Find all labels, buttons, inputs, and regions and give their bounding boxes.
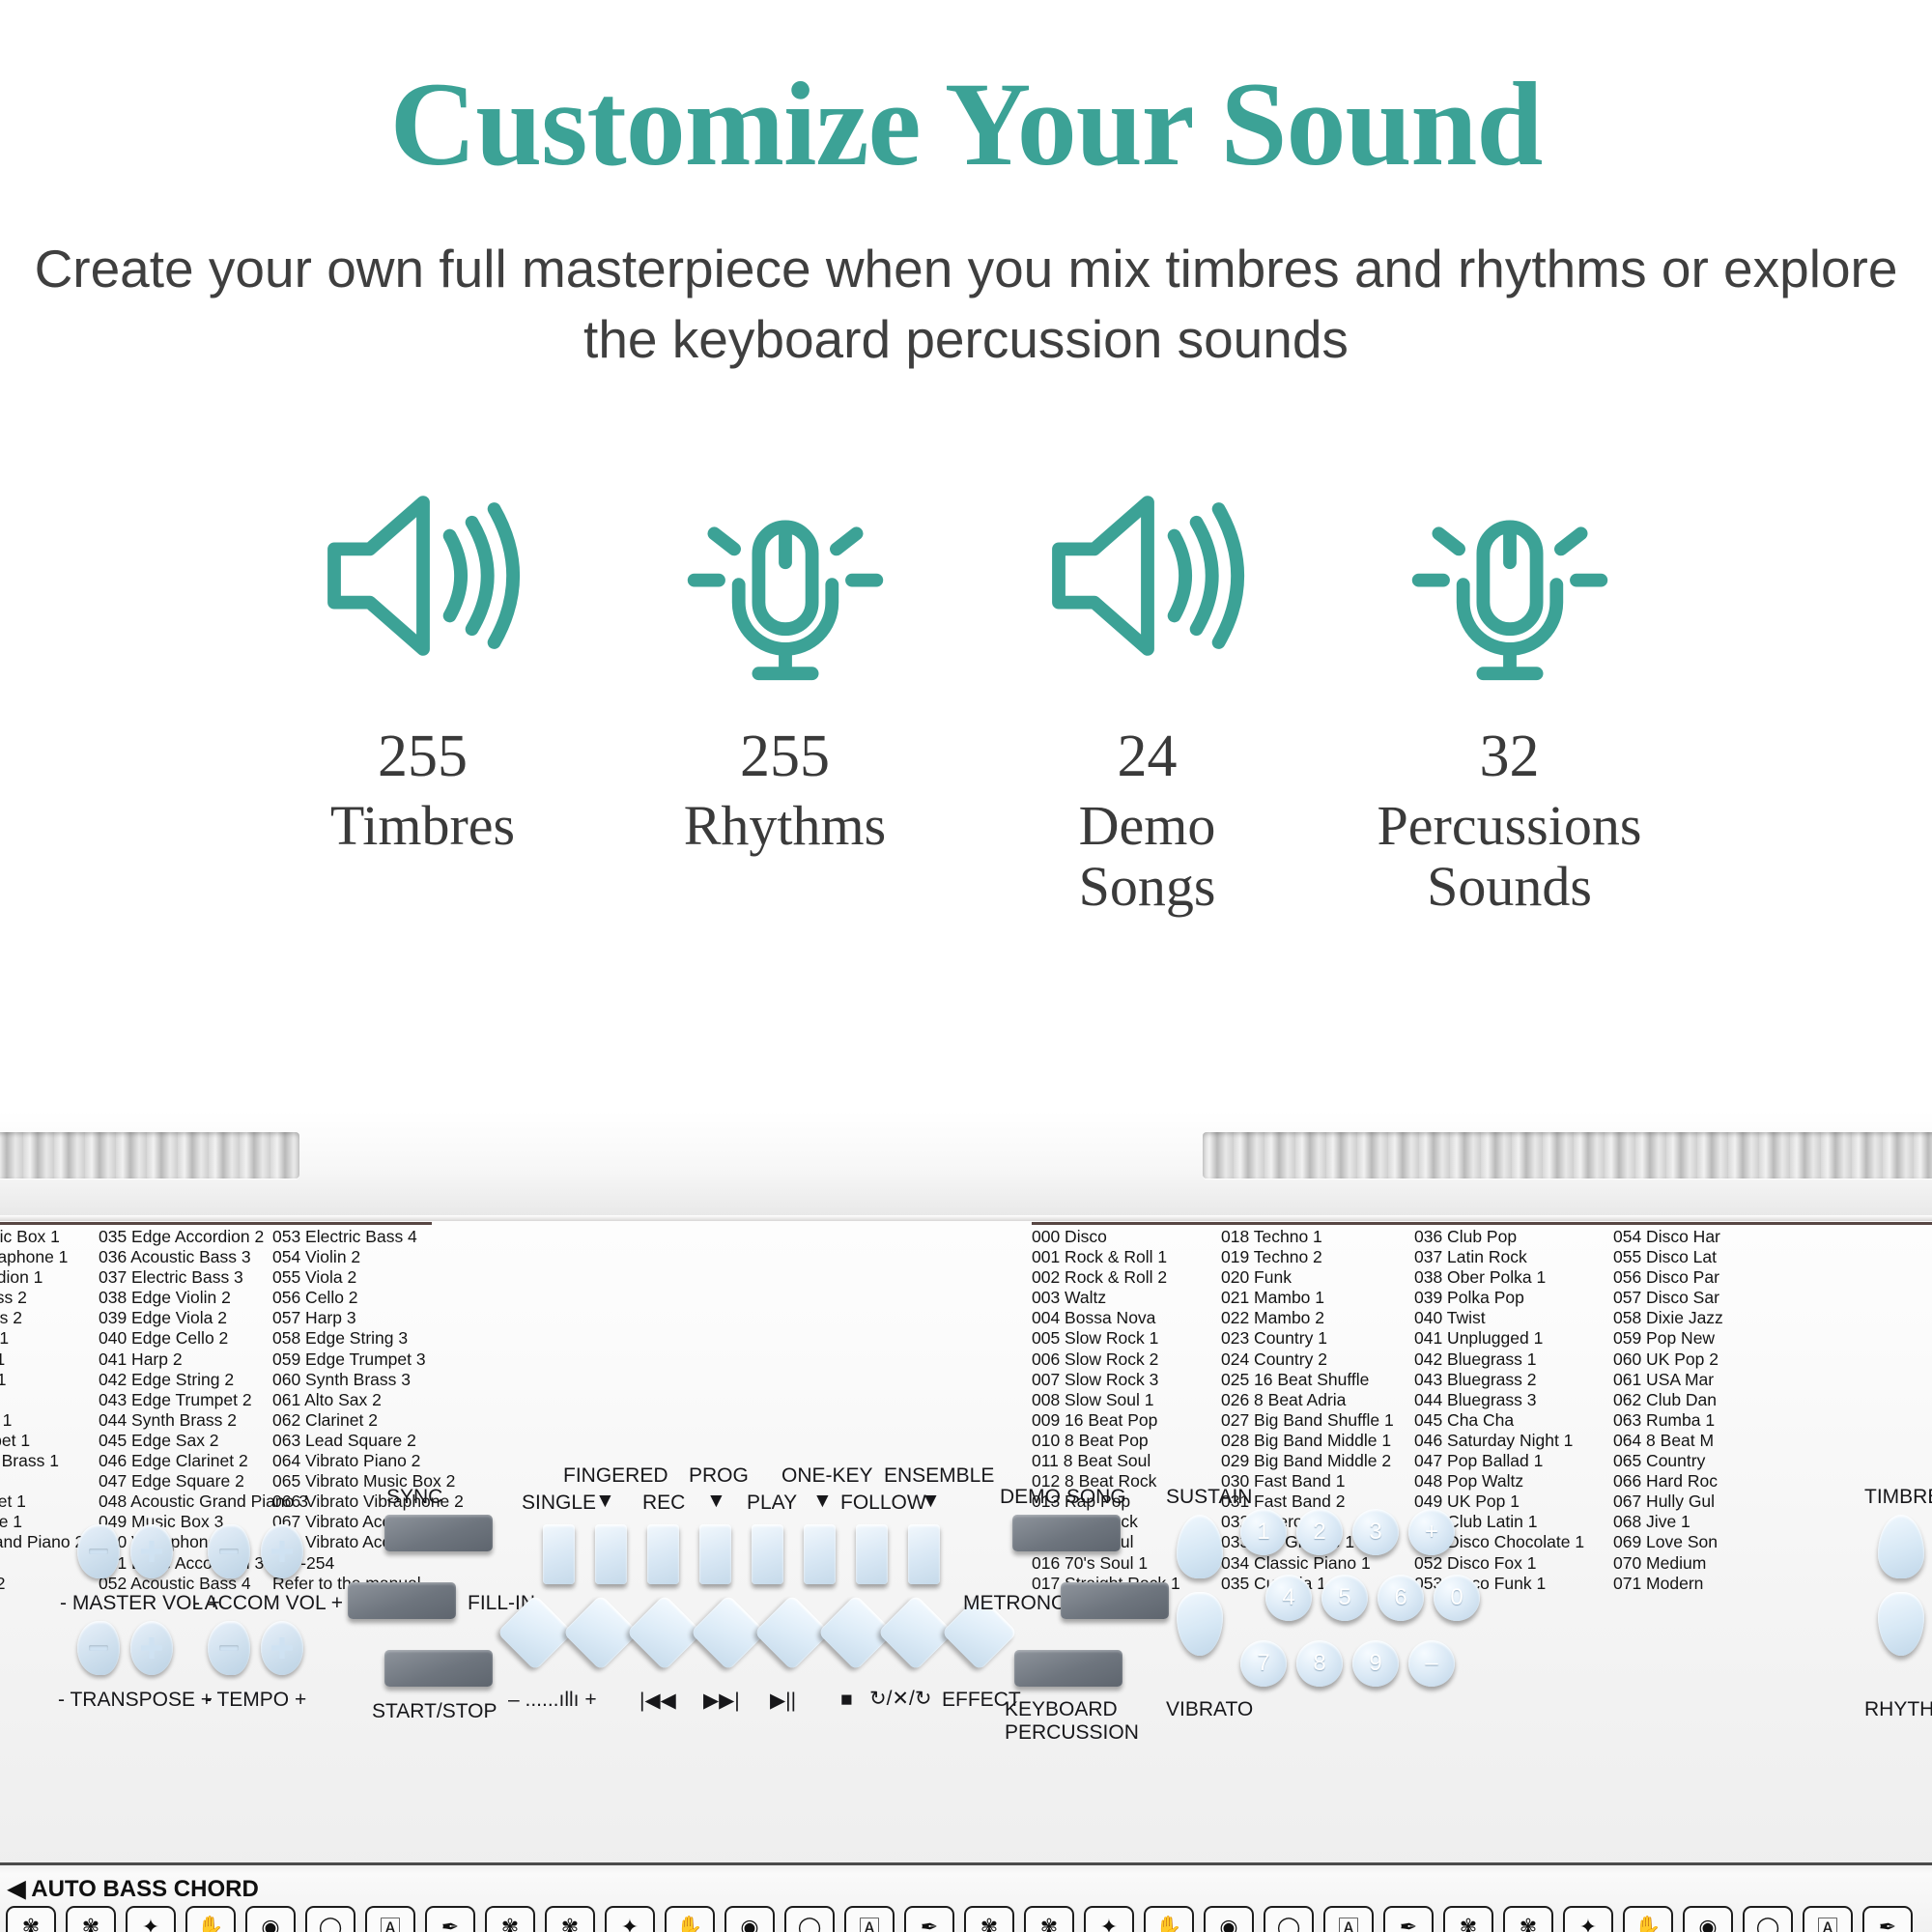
auto-bass-chord-strip: ◀ AUTO BASS CHORD ✾✾✦✋◉◯🄰✒✾✾✦✋◉◯🄰✒✾✾✦✋◉◯… <box>0 1862 1932 1932</box>
accom-vol-label: - ACCOM VOL + <box>193 1592 343 1615</box>
percussion-key-icon[interactable]: ◉ <box>1204 1906 1254 1932</box>
microphone-icon <box>1328 450 1690 701</box>
play-label: PLAY <box>747 1492 797 1515</box>
sustain-button[interactable] <box>1177 1515 1223 1578</box>
list-item: 061 USA Mar <box>1613 1370 1806 1390</box>
next-icon: ▶▶| <box>703 1689 740 1713</box>
list-item: 023 Country 1 <box>1221 1328 1414 1349</box>
list-item: o Music Box 1 <box>0 1227 99 1247</box>
list-item: 059 Edge Trumpet 3 <box>272 1350 456 1370</box>
minus-icon <box>89 1645 108 1651</box>
list-item: 054 Violin 2 <box>272 1247 456 1267</box>
microphone-icon <box>604 450 966 701</box>
list-item: 061 Alto Sax 2 <box>272 1390 456 1410</box>
list-item: Trumpet 1 <box>0 1431 99 1451</box>
list-item: 056 Disco Par <box>1613 1267 1806 1288</box>
list-item: 057 Disco Sar <box>1613 1288 1806 1308</box>
percussion-key-icon[interactable]: ◯ <box>1743 1906 1793 1932</box>
mode-button-ensemble[interactable] <box>908 1524 940 1584</box>
feature-timbres: 255 Timbres <box>241 450 604 857</box>
list-item: 000 Disco <box>1032 1227 1221 1247</box>
percussion-icon-row: ✾✾✦✋◉◯🄰✒✾✾✦✋◉◯🄰✒✾✾✦✋◉◯🄰✒✾✾✦✋◉◯🄰✒ <box>0 1906 1913 1932</box>
list-item: 003 Waltz <box>1032 1288 1221 1308</box>
case-lip <box>0 1215 1932 1221</box>
list-item: 036 Club Pop <box>1414 1227 1613 1247</box>
follow-label: FOLLOW <box>840 1492 926 1515</box>
list-item: 053 Electric Bass 4 <box>272 1227 456 1247</box>
panel-divider <box>0 1222 432 1225</box>
percussion-key-icon[interactable]: ✦ <box>126 1906 176 1932</box>
percussion-key-icon[interactable]: ◯ <box>1264 1906 1314 1932</box>
minus-icon <box>219 1548 239 1554</box>
list-item: 010 8 Beat Pop <box>1032 1431 1221 1451</box>
percussion-key-icon[interactable]: 🄰 <box>1323 1906 1374 1932</box>
percussion-key-icon[interactable]: ◉ <box>245 1906 296 1932</box>
sync-button[interactable] <box>384 1515 493 1551</box>
feature-percussion-sounds: 32 Percussions Sounds <box>1328 450 1690 917</box>
minus-icon <box>219 1645 239 1651</box>
list-item: 002 Rock & Roll 2 <box>1032 1267 1221 1288</box>
volume-slider-icon: – ......ıllı + <box>508 1689 597 1712</box>
numpad-key-2[interactable]: 2 <box>1296 1509 1343 1555</box>
start-stop-label: START/STOP <box>372 1700 497 1723</box>
list-item: 043 Edge Trumpet 2 <box>99 1390 272 1410</box>
list-item: String 1 <box>0 1410 99 1431</box>
list-item: 060 UK Pop 2 <box>1613 1350 1806 1370</box>
stop-icon: ■ <box>840 1689 853 1712</box>
sustain-label: SUSTAIN <box>1166 1486 1252 1509</box>
percussion-key-icon[interactable]: ✋ <box>1623 1906 1673 1932</box>
list-item: Violin 1 <box>0 1328 99 1349</box>
timbre-label: TIMBRE <box>1864 1486 1932 1509</box>
percussion-key-icon[interactable]: ✒ <box>1862 1906 1913 1932</box>
panel-divider <box>1032 1222 1932 1225</box>
feature-number: 32 <box>1328 726 1690 786</box>
percussion-key-icon[interactable]: ✾ <box>1024 1906 1074 1932</box>
tempo-plus-button[interactable] <box>261 1621 303 1675</box>
list-item: 008 Slow Soul 1 <box>1032 1390 1221 1410</box>
transport-button-volume-up[interactable] <box>562 1594 639 1670</box>
list-item: 046 Saturday Night 1 <box>1414 1431 1613 1451</box>
list-item: 044 Synth Brass 2 <box>99 1410 272 1431</box>
demo-song-label: DEMO SONG <box>1000 1486 1126 1509</box>
feature-label: Timbres <box>241 796 604 857</box>
mode-button-one-key[interactable] <box>804 1524 836 1584</box>
numpad-key-8[interactable]: 8 <box>1296 1640 1343 1687</box>
list-item: 028 Big Band Middle 1 <box>1221 1431 1414 1451</box>
list-item: 004 Bossa Nova <box>1032 1308 1221 1328</box>
percussion-key-icon[interactable]: ✾ <box>964 1906 1014 1932</box>
percussion-key-icon[interactable]: ✾ <box>6 1906 56 1932</box>
start-stop-button[interactable] <box>384 1650 493 1687</box>
plus-icon <box>271 1541 293 1562</box>
percussion-key-icon[interactable]: 🄰 <box>1803 1906 1853 1932</box>
list-item: 019 Techno 2 <box>1221 1247 1414 1267</box>
tempo-label: - TEMPO + <box>205 1689 306 1712</box>
speaker-waves-icon <box>241 450 604 701</box>
one-key-arrow-icon: ▼ <box>812 1490 833 1513</box>
speaker-grille-right <box>1203 1132 1932 1179</box>
percussion-key-icon[interactable]: ◉ <box>724 1906 775 1932</box>
ensemble-label: ENSEMBLE <box>884 1464 994 1488</box>
list-item: 045 Edge Sax 2 <box>99 1431 272 1451</box>
percussion-key-icon[interactable]: ✾ <box>1503 1906 1553 1932</box>
percussion-key-icon[interactable]: ✦ <box>1084 1906 1134 1932</box>
list-item: 009 16 Beat Pop <box>1032 1410 1221 1431</box>
percussion-key-icon[interactable]: ✒ <box>1383 1906 1434 1932</box>
percussion-key-icon[interactable]: ✦ <box>1563 1906 1613 1932</box>
mode-button-fingered[interactable] <box>595 1524 627 1584</box>
list-item: 038 Ober Polka 1 <box>1414 1267 1613 1288</box>
mode-button-follow[interactable] <box>856 1524 888 1584</box>
list-item: 025 16 Beat Shuffle <box>1221 1370 1414 1390</box>
feature-number: 255 <box>241 726 604 786</box>
keyboard-percussion-button[interactable] <box>1014 1650 1122 1687</box>
percussion-key-icon[interactable]: ✒ <box>904 1906 954 1932</box>
feature-number: 255 <box>604 726 966 786</box>
page-title: Customize Your Sound <box>0 60 1932 189</box>
mode-button-play[interactable] <box>752 1524 783 1584</box>
speaker-waves-icon <box>966 450 1328 701</box>
list-item: Cello 1 <box>0 1370 99 1390</box>
list-item: Accordion 1 <box>0 1267 99 1288</box>
percussion-key-icon[interactable]: ✾ <box>545 1906 595 1932</box>
ensemble-arrow-icon: ▼ <box>921 1490 941 1513</box>
list-item: 024 Country 2 <box>1221 1350 1414 1370</box>
list-item: 056 Cello 2 <box>272 1288 456 1308</box>
list-item: 037 Electric Bass 3 <box>99 1267 272 1288</box>
list-item: 005 Slow Rock 1 <box>1032 1328 1221 1349</box>
transport-button-play-pause[interactable] <box>753 1594 830 1670</box>
timbre-button[interactable] <box>1878 1515 1924 1578</box>
percussion-key-icon[interactable]: ✒ <box>425 1906 475 1932</box>
transpose-label: - TRANSPOSE + <box>58 1689 213 1712</box>
transport-button-previous[interactable] <box>626 1594 702 1670</box>
list-item: 035 Edge Accordion 2 <box>99 1227 272 1247</box>
feature-row: 255 Timbres 255 Rhythms <box>0 450 1932 917</box>
mode-button-rec[interactable] <box>647 1524 679 1584</box>
list-item: tic Bass 2 <box>0 1288 99 1308</box>
vibrato-button[interactable] <box>1177 1592 1223 1656</box>
list-item: 063 Rumba 1 <box>1613 1410 1806 1431</box>
list-item: 064 8 Beat M <box>1613 1431 1806 1451</box>
list-item: 1 <box>0 1390 99 1410</box>
percussion-key-icon[interactable]: ✋ <box>185 1906 236 1932</box>
percussion-key-icon[interactable]: ✾ <box>1443 1906 1493 1932</box>
keyboard-percussion-label: KEYBOARD PERCUSSION <box>1005 1698 1139 1745</box>
transpose-plus-button[interactable] <box>130 1621 173 1675</box>
list-item: 020 Funk <box>1221 1267 1414 1288</box>
list-item: 007 Slow Rock 3 <box>1032 1370 1221 1390</box>
plus-icon <box>141 1637 162 1659</box>
keyboard-photo: o Music Box 1o Vibraphone 1Accordion 1ti… <box>0 1111 1932 1932</box>
numpad-key-6[interactable]: 6 <box>1378 1575 1424 1621</box>
plus-icon <box>141 1541 162 1562</box>
plus-icon <box>271 1637 293 1659</box>
fingered-label: FINGERED <box>563 1464 668 1488</box>
percussion-key-icon[interactable]: 🄰 <box>365 1906 415 1932</box>
mode-button-single[interactable] <box>543 1524 575 1584</box>
metronome-button[interactable] <box>1061 1582 1169 1619</box>
numpad-key-9[interactable]: 9 <box>1352 1640 1399 1687</box>
accom-vol-plus-button[interactable] <box>261 1524 303 1578</box>
list-item: 041 Harp 2 <box>99 1350 272 1370</box>
transport-button-next[interactable] <box>690 1594 766 1670</box>
rec-label: REC <box>642 1492 685 1515</box>
repeat-shuffle-icon: ↻/✕/↻ <box>869 1687 931 1711</box>
list-item: 038 Edge Violin 2 <box>99 1288 272 1308</box>
list-item: 063 Lead Square 2 <box>272 1431 456 1451</box>
rhythm-button[interactable] <box>1878 1592 1924 1656</box>
percussion-key-icon[interactable]: ✋ <box>665 1906 715 1932</box>
auto-bass-chord-label: ◀ AUTO BASS CHORD <box>8 1875 259 1903</box>
hero-section: Customize Your Sound Create your own ful… <box>0 0 1932 375</box>
list-item: 045 Cha Cha <box>1414 1410 1613 1431</box>
prog-arrow-icon: ▼ <box>706 1490 726 1513</box>
page-subtitle: Create your own full masterpiece when yo… <box>0 234 1932 375</box>
list-item: 059 Pop New <box>1613 1328 1806 1349</box>
play-pause-icon: ▶|| <box>770 1689 796 1713</box>
list-item: 042 Bluegrass 1 <box>1414 1350 1613 1370</box>
list-item: 036 Acoustic Bass 3 <box>99 1247 272 1267</box>
demo-song-button[interactable] <box>1012 1515 1121 1551</box>
list-item: 006 Slow Rock 2 <box>1032 1350 1221 1370</box>
list-item: 018 Techno 1 <box>1221 1227 1414 1247</box>
list-item: 022 Mambo 2 <box>1221 1308 1414 1328</box>
accom-vol-minus-button[interactable] <box>208 1524 250 1578</box>
sync-label: SYNC <box>386 1486 442 1509</box>
list-item: 057 Harp 3 <box>272 1308 456 1328</box>
speaker-grille-left <box>0 1132 299 1179</box>
list-item: 058 Dixie Jazz <box>1613 1308 1806 1328</box>
list-item: ic Bass 2 <box>0 1308 99 1328</box>
percussion-key-icon[interactable]: ✦ <box>605 1906 655 1932</box>
feature-label: Demo Songs <box>966 796 1328 917</box>
numpad-key-minus[interactable]: – <box>1408 1640 1455 1687</box>
one-key-label: ONE-KEY <box>781 1464 873 1488</box>
list-item: 042 Edge String 2 <box>99 1370 272 1390</box>
percussion-key-icon[interactable]: ✋ <box>1144 1906 1194 1932</box>
transport-button-repeat[interactable] <box>877 1594 953 1670</box>
percussion-key-icon[interactable]: ◯ <box>784 1906 835 1932</box>
numpad-key-4[interactable]: 4 <box>1265 1575 1312 1621</box>
prog-label: PROG <box>689 1464 749 1488</box>
percussion-key-icon[interactable]: ✾ <box>485 1906 535 1932</box>
list-item: 041 Unplugged 1 <box>1414 1328 1613 1349</box>
list-item: 021 Mambo 1 <box>1221 1288 1414 1308</box>
list-item: 039 Edge Viola 2 <box>99 1308 272 1328</box>
list-item: 062 Club Dan <box>1613 1390 1806 1410</box>
list-item: 054 Disco Har <box>1613 1227 1806 1247</box>
list-item: 043 Bluegrass 2 <box>1414 1370 1613 1390</box>
feature-rhythms: 255 Rhythms <box>604 450 966 857</box>
list-item: 026 8 Beat Adria <box>1221 1390 1414 1410</box>
fingered-arrow-icon: ▼ <box>595 1490 615 1513</box>
list-item: 027 Big Band Shuffle 1 <box>1221 1410 1414 1431</box>
master-vol-minus-button[interactable] <box>77 1524 120 1578</box>
numpad-key-plus[interactable]: + <box>1408 1509 1455 1555</box>
feature-label: Percussions Sounds <box>1328 796 1690 917</box>
list-item: 058 Edge String 3 <box>272 1328 456 1349</box>
percussion-key-icon[interactable]: ◯ <box>305 1906 355 1932</box>
numpad-key-1[interactable]: 1 <box>1240 1509 1287 1555</box>
list-item: 001 Rock & Roll 1 <box>1032 1247 1221 1267</box>
list-item: 037 Latin Rock <box>1414 1247 1613 1267</box>
list-item: 044 Bluegrass 3 <box>1414 1390 1613 1410</box>
numpad-key-0[interactable]: 0 <box>1434 1575 1480 1621</box>
list-item: 040 Edge Cello 2 <box>99 1328 272 1349</box>
minus-icon <box>89 1548 108 1554</box>
rhythm-label: RHYTHM <box>1864 1698 1932 1721</box>
numpad-key-3[interactable]: 3 <box>1352 1509 1399 1555</box>
list-item: 062 Clarinet 2 <box>272 1410 456 1431</box>
percussion-key-icon[interactable]: ◉ <box>1683 1906 1733 1932</box>
percussion-key-icon[interactable]: ✾ <box>66 1906 116 1932</box>
numpad-key-7[interactable]: 7 <box>1240 1640 1287 1687</box>
control-panel: - MASTER VOL + - ACCOM VOL + - TRANSPOSE… <box>0 1468 1932 1835</box>
numpad-key-5[interactable]: 5 <box>1321 1575 1368 1621</box>
list-item: 060 Synth Brass 3 <box>272 1370 456 1390</box>
mode-button-prog[interactable] <box>699 1524 731 1584</box>
feature-number: 24 <box>966 726 1328 786</box>
fill-in-button[interactable] <box>348 1582 456 1619</box>
previous-icon: |◀◀ <box>639 1689 676 1713</box>
list-item: 039 Polka Pop <box>1414 1288 1613 1308</box>
list-item: 040 Twist <box>1414 1308 1613 1328</box>
feature-label: Rhythms <box>604 796 966 857</box>
single-label: SINGLE <box>522 1492 596 1515</box>
tempo-minus-button[interactable] <box>208 1621 250 1675</box>
vibrato-label: VIBRATO <box>1166 1698 1253 1721</box>
list-item: Viola 1 <box>0 1350 99 1370</box>
list-item: 055 Disco Lat <box>1613 1247 1806 1267</box>
percussion-key-icon[interactable]: 🄰 <box>844 1906 895 1932</box>
list-item: 055 Viola 2 <box>272 1267 456 1288</box>
master-vol-plus-button[interactable] <box>130 1524 173 1578</box>
list-item: o Vibraphone 1 <box>0 1247 99 1267</box>
transpose-minus-button[interactable] <box>77 1621 120 1675</box>
feature-demo-songs: 24 Demo Songs <box>966 450 1328 917</box>
